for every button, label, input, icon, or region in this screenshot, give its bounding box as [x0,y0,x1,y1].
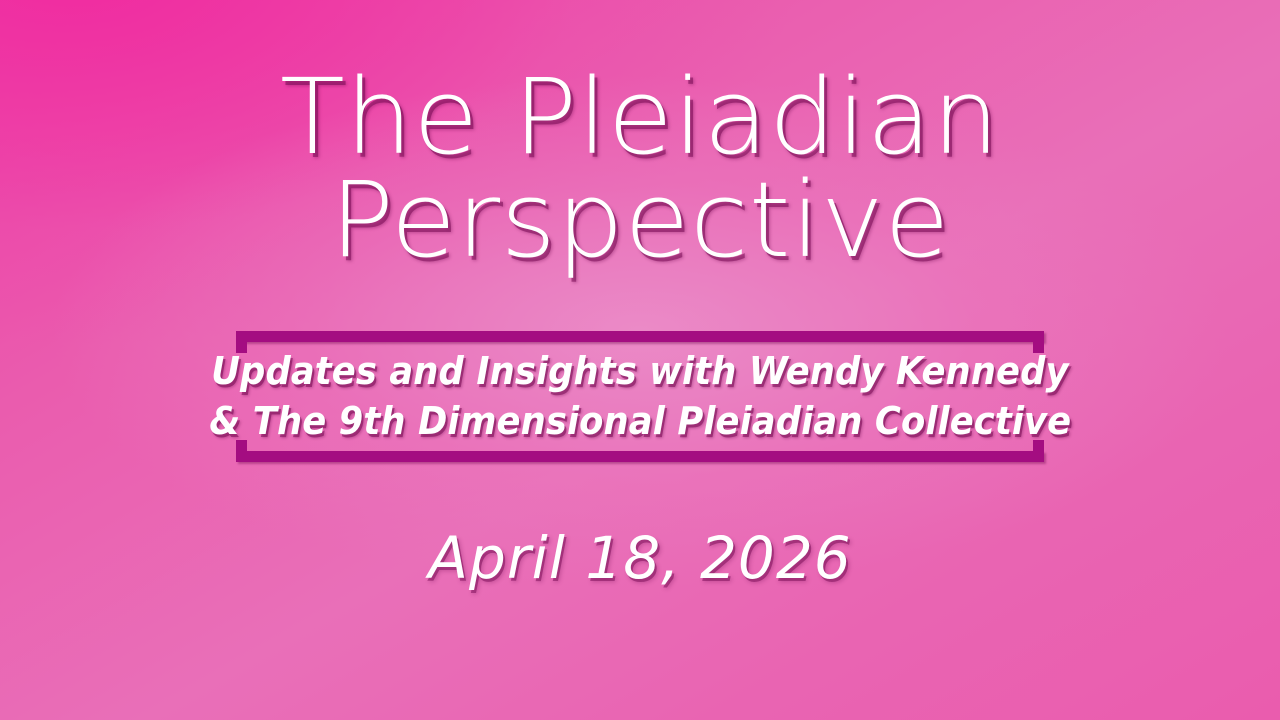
frame-top-bar [236,331,1044,342]
page-title: The Pleiadian Perspective [0,66,1280,272]
title-slide: The Pleiadian Perspective Updates and In… [0,0,1280,720]
episode-date: April 18, 2026 [0,524,1280,592]
title-line-2: Perspective [0,169,1280,272]
subtitle: Updates and Insights with Wendy Kennedy … [236,343,1044,450]
subtitle-line-1: Updates and Insights with Wendy Kennedy [211,347,1068,396]
frame-bottom-bar [236,451,1044,462]
title-line-1: The Pleiadian [0,66,1280,169]
subtitle-frame: Updates and Insights with Wendy Kennedy … [236,331,1044,462]
subtitle-line-2: & The 9th Dimensional Pleiadian Collecti… [209,397,1071,446]
